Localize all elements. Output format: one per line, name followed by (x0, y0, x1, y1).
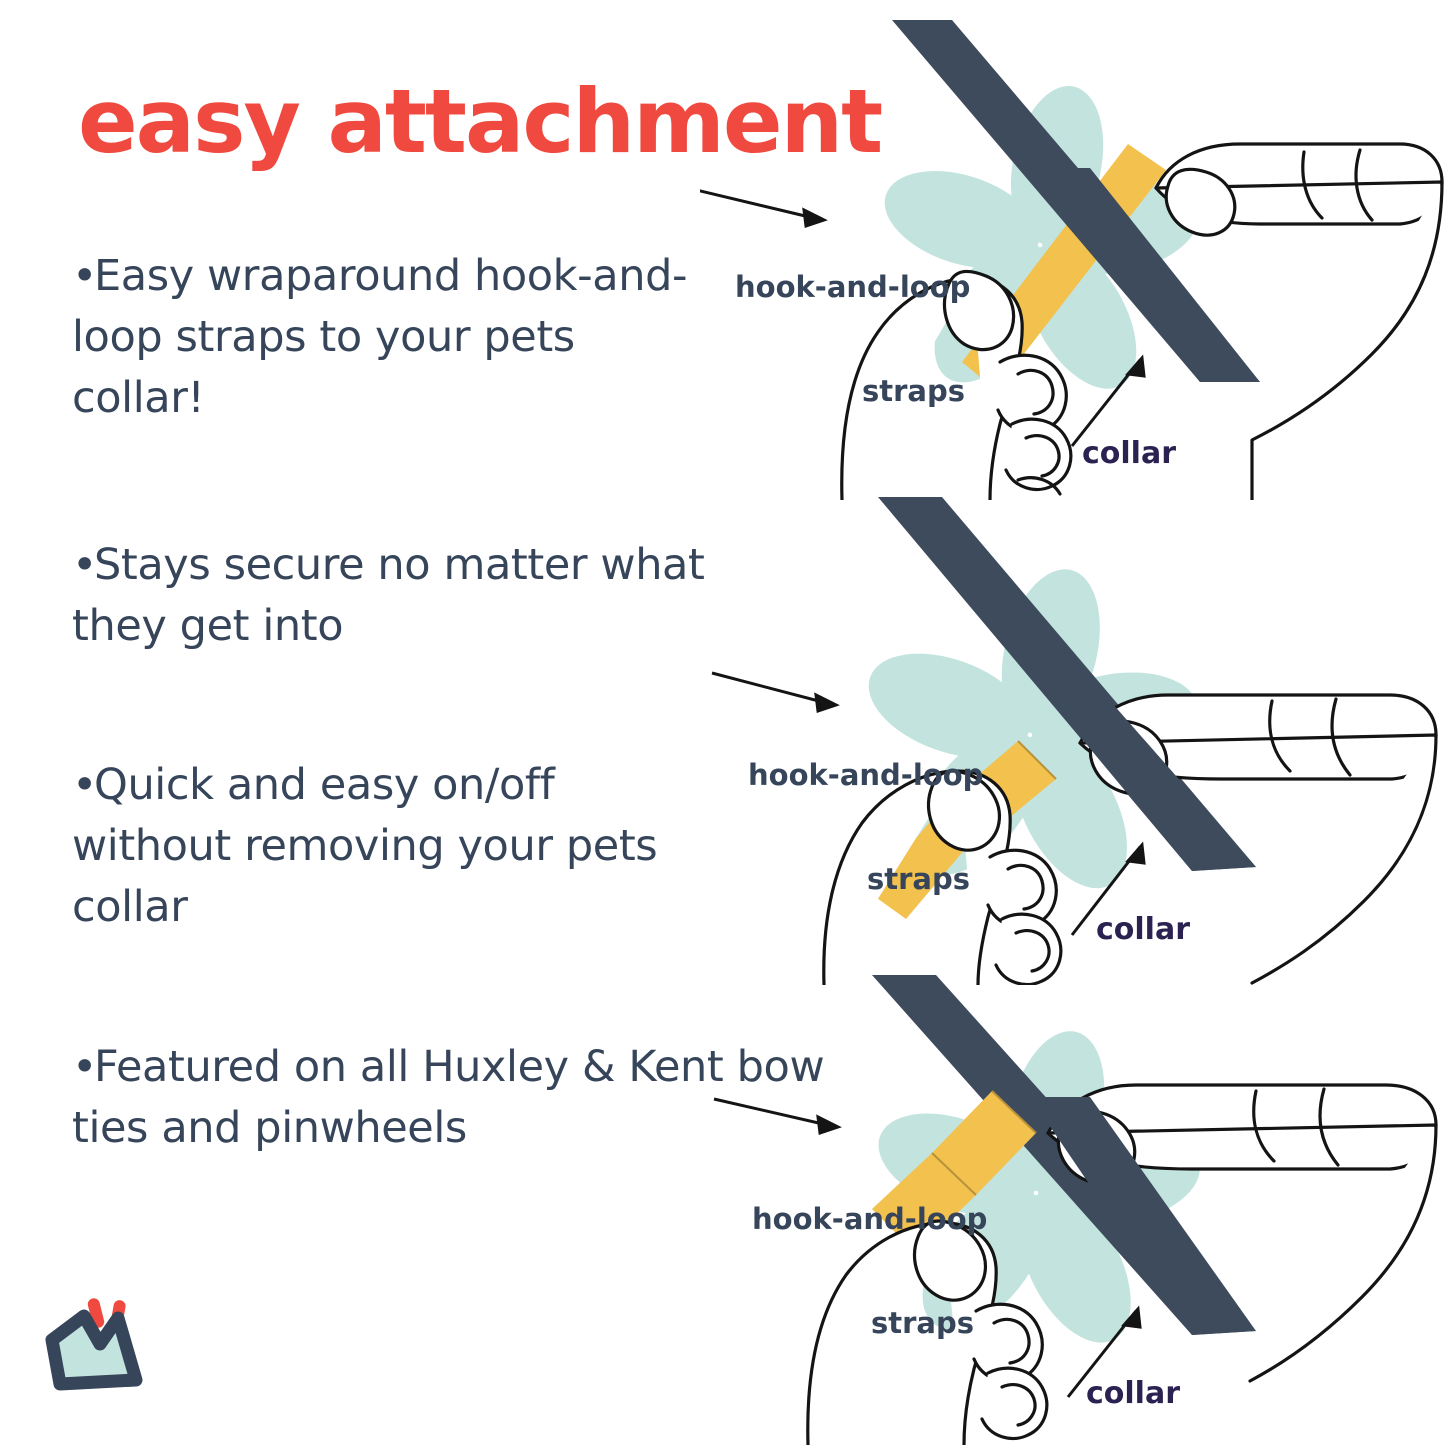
panel-1-straps-label: hook-and-loop straps (735, 200, 965, 478)
feature-bullet-3: •Quick and easy on/off without removing … (72, 755, 692, 938)
panel-2-collar-label: collar (1096, 912, 1190, 948)
huxley-and-kent-crown-logo (44, 1288, 184, 1428)
bullet-marker: • (72, 1037, 94, 1098)
feature-bullet-1-text: Easy wraparound hook-and-loop straps to … (72, 251, 687, 423)
bullet-marker: • (72, 246, 94, 307)
panel-3-collar-label: collar (1086, 1376, 1180, 1412)
infographic-page: easy attachment •Easy wraparound hook-an… (0, 0, 1445, 1445)
feature-bullet-3-text: Quick and easy on/off without removing y… (72, 760, 657, 932)
crown-shape (52, 1316, 136, 1384)
panel-3-straps-label: hook-and-loop straps (752, 1132, 974, 1410)
feature-bullet-1: •Easy wraparound hook-and-loop straps to… (72, 246, 712, 429)
panel-2-straps-label: hook-and-loop straps (748, 688, 970, 966)
feature-bullet-2-text: Stays secure no matter what they get int… (72, 540, 704, 651)
bullet-marker: • (72, 535, 94, 596)
strap-pointer-arrow (714, 1099, 838, 1133)
bullet-marker: • (72, 755, 94, 816)
feature-bullet-2: •Stays secure no matter what they get in… (72, 535, 732, 657)
panel-1-collar-label: collar (1082, 436, 1176, 472)
